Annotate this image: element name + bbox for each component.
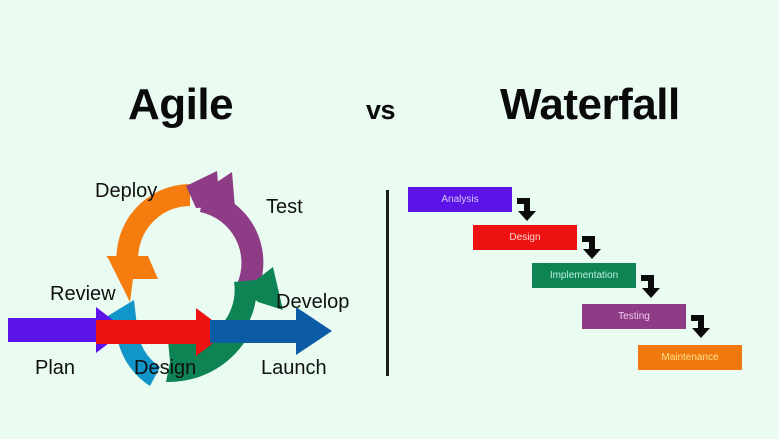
waterfall-connector-arrow-2-icon — [581, 232, 607, 260]
waterfall-stage-label: Maintenance — [661, 352, 718, 364]
diagram-canvas: Agile vs Waterfall — [0, 0, 779, 439]
waterfall-stage-label: Analysis — [441, 194, 478, 206]
waterfall-stage-implementation: Implementation — [532, 263, 636, 288]
waterfall-stage-analysis: Analysis — [408, 187, 512, 212]
waterfall-stage-design: Design — [473, 225, 577, 250]
waterfall-stage-testing: Testing — [582, 304, 686, 329]
waterfall-stage-label: Testing — [618, 311, 650, 323]
waterfall-stage-label: Implementation — [550, 270, 618, 282]
waterfall-stage-maintenance: Maintenance — [638, 345, 742, 370]
waterfall-connector-arrow-3-icon — [640, 271, 666, 299]
waterfall-connector-arrow-4-icon — [690, 311, 716, 339]
waterfall-diagram: Analysis Design Implementation Testing M… — [0, 0, 779, 439]
waterfall-connector-arrow-1-icon — [516, 194, 542, 222]
waterfall-stage-label: Design — [509, 232, 540, 244]
